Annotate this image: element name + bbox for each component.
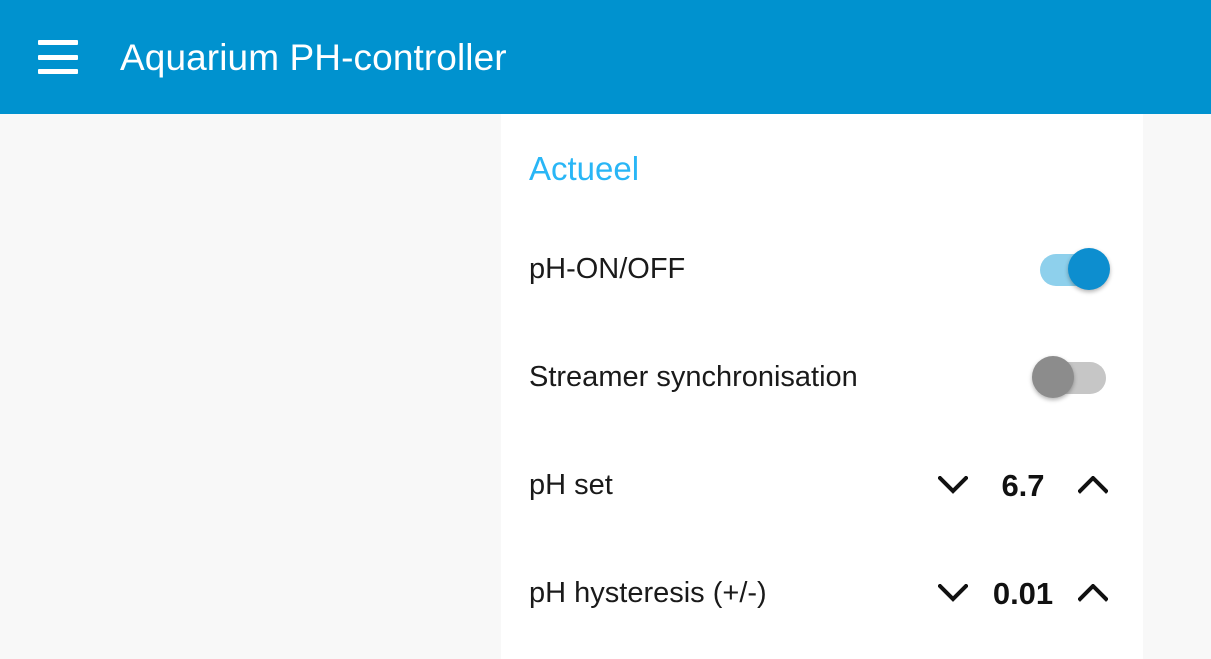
- row-label-ph-set: pH set: [529, 471, 613, 500]
- stepper-ph-set: 6.7: [931, 463, 1115, 507]
- hamburger-menu-icon[interactable]: [38, 40, 78, 74]
- row-ph-set: pH set 6.7: [529, 431, 1115, 539]
- chevron-up-icon[interactable]: [1071, 463, 1115, 507]
- chevron-up-icon[interactable]: [1071, 571, 1115, 615]
- app-root: Aquarium PH-controller Actueel pH-ON/OFF…: [0, 0, 1211, 659]
- row-ph-hysteresis: pH hysteresis (+/-) 0.01: [529, 539, 1115, 647]
- stepper-ph-hysteresis: 0.01: [931, 571, 1115, 615]
- actueel-card: Actueel pH-ON/OFF Streamer synchronisati…: [501, 114, 1143, 659]
- toggle-ph-on-off[interactable]: [1032, 248, 1110, 290]
- row-label-streamer-synchronisation: Streamer synchronisation: [529, 363, 858, 392]
- content-area: Actueel pH-ON/OFF Streamer synchronisati…: [0, 114, 1211, 659]
- row-label-ph-on-off: pH-ON/OFF: [529, 255, 685, 284]
- row-streamer-synchronisation: Streamer synchronisation: [529, 323, 1115, 431]
- hamburger-bar-top: [38, 40, 78, 45]
- card-title: Actueel: [529, 114, 1115, 185]
- app-title: Aquarium PH-controller: [120, 39, 507, 76]
- hamburger-bar-bottom: [38, 69, 78, 74]
- app-bar: Aquarium PH-controller: [0, 0, 1211, 114]
- stepper-value-ph-hysteresis: 0.01: [975, 578, 1071, 609]
- chevron-down-icon[interactable]: [931, 463, 975, 507]
- toggle-thumb: [1068, 248, 1110, 290]
- toggle-streamer-synchronisation[interactable]: [1032, 356, 1110, 398]
- row-label-ph-hysteresis: pH hysteresis (+/-): [529, 579, 767, 608]
- hamburger-bar-middle: [38, 55, 78, 60]
- stepper-value-ph-set: 6.7: [975, 470, 1071, 501]
- toggle-thumb: [1032, 356, 1074, 398]
- row-ph-on-off: pH-ON/OFF: [529, 215, 1115, 323]
- chevron-down-icon[interactable]: [931, 571, 975, 615]
